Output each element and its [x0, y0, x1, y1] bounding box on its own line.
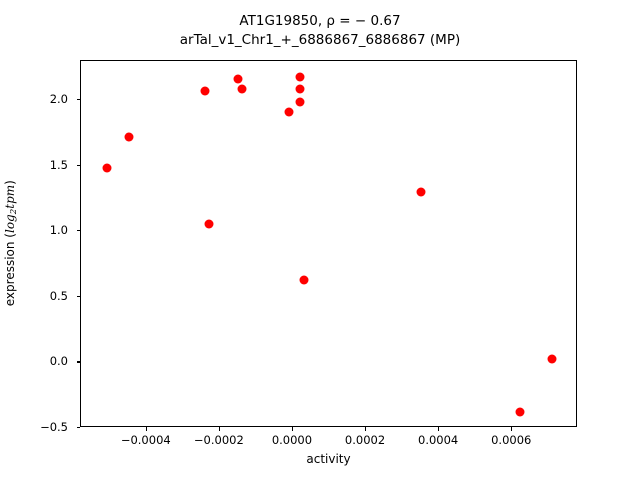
- y-axis-label-text: expression (log2tpm): [3, 180, 19, 306]
- y-axis-label-prefix: expression (: [3, 233, 17, 306]
- y-axis-label: expression (log2tpm): [0, 60, 22, 427]
- y-tick-mark: [77, 427, 81, 428]
- x-tick-mark: [292, 427, 293, 431]
- scatter-point: [124, 133, 133, 142]
- x-tick-mark: [146, 427, 147, 431]
- scatter-point: [548, 354, 557, 363]
- x-tick-label: 0.0002: [345, 433, 385, 447]
- scatter-point: [515, 408, 524, 417]
- scatter-point: [234, 75, 243, 84]
- scatter-point: [416, 188, 425, 197]
- scatter-point: [237, 84, 246, 93]
- y-tick-mark: [77, 361, 81, 362]
- y-tick-mark: [77, 165, 81, 166]
- x-tick-label: 0.0000: [272, 433, 312, 447]
- scatter-point: [102, 164, 111, 173]
- y-tick-mark: [77, 99, 81, 100]
- x-tick-mark: [365, 427, 366, 431]
- scatter-point: [285, 108, 294, 117]
- y-tick-label: 0.5: [50, 289, 68, 303]
- chart-title-line-1: AT1G19850, ρ = − 0.67: [0, 12, 640, 31]
- chart-title: AT1G19850, ρ = − 0.67 arTal_v1_Chr1_+_68…: [0, 12, 640, 50]
- y-tick-label: −0.5: [40, 420, 68, 434]
- y-tick-label: 2.0: [50, 92, 68, 106]
- y-tick-label: 0.0: [50, 354, 68, 368]
- x-tick-mark: [219, 427, 220, 431]
- scatter-point: [299, 275, 308, 284]
- y-tick-mark: [77, 296, 81, 297]
- scatter-plot-area: [81, 61, 576, 426]
- chart-title-line-2: arTal_v1_Chr1_+_6886867_6886867 (MP): [0, 31, 640, 50]
- scatter-point: [296, 97, 305, 106]
- x-tick-label: −0.0002: [194, 433, 244, 447]
- scatter-point: [204, 219, 213, 228]
- y-tick-mark: [77, 230, 81, 231]
- scatter-point: [296, 84, 305, 93]
- x-axis-label: activity: [80, 452, 577, 466]
- figure-canvas: AT1G19850, ρ = − 0.67 arTal_v1_Chr1_+_68…: [0, 0, 640, 480]
- y-axis-label-math-unit: tpm: [3, 185, 17, 209]
- y-tick-label: 1.5: [50, 158, 68, 172]
- y-axis-label-math-sub: 2: [9, 209, 19, 215]
- y-axis-label-math-base: log: [3, 215, 17, 234]
- x-tick-label: −0.0004: [121, 433, 171, 447]
- plot-axes: [80, 60, 577, 427]
- y-axis-label-suffix: ): [3, 180, 17, 185]
- y-tick-label: 1.0: [50, 223, 68, 237]
- x-tick-label: 0.0006: [491, 433, 531, 447]
- scatter-point: [296, 72, 305, 81]
- scatter-point: [201, 87, 210, 96]
- x-tick-mark: [438, 427, 439, 431]
- x-tick-mark: [511, 427, 512, 431]
- x-tick-label: 0.0004: [418, 433, 458, 447]
